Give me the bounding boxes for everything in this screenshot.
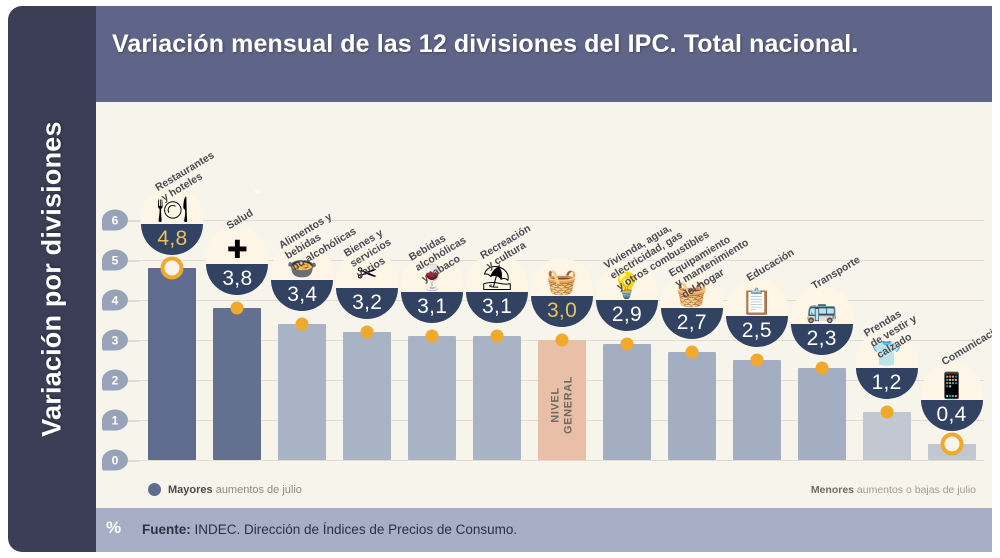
- y-tick-4: 4: [102, 290, 128, 311]
- y-tick-stem: [128, 340, 140, 341]
- value-bubble-6: 3,0: [531, 296, 593, 327]
- title-bar: Variación mensual de las 12 divisiones d…: [96, 6, 992, 102]
- source-text: INDEC. Dirección de Índices de Precios d…: [191, 522, 517, 537]
- y-tick-pill: 4: [102, 290, 128, 311]
- medical-cross-icon: ✚: [206, 226, 268, 264]
- category-label-12: Comunicación: [939, 321, 992, 369]
- smartphone-icon: 📱: [921, 362, 983, 400]
- bar-top-marker-9: [750, 354, 763, 367]
- bar-3[interactable]: [343, 332, 391, 460]
- value-text-12: 0,4: [936, 404, 966, 425]
- y-tick-0: 0: [102, 450, 128, 471]
- bar-top-marker-11: [880, 406, 893, 419]
- value-bubble-1: 3,8: [206, 264, 268, 295]
- legend-right-bold: Menores: [811, 484, 854, 496]
- bar-8[interactable]: [668, 352, 716, 460]
- bar-7[interactable]: [603, 344, 651, 460]
- bar-12[interactable]: [928, 444, 976, 460]
- sidebar: Variación por divisiones: [8, 6, 96, 552]
- percent-symbol: %: [106, 518, 121, 538]
- legend-right: Menores aumentos o bajas de julio: [811, 484, 976, 496]
- shopping-basket-icon-glyph: 🧺: [546, 270, 577, 295]
- value-text-4: 3,1: [417, 296, 447, 317]
- value-text-7: 2,9: [612, 304, 642, 325]
- legend-left: Mayores aumentos de julio: [148, 483, 302, 496]
- legend-left-bold: Mayores: [168, 484, 213, 496]
- y-tick-pill: 3: [102, 330, 128, 351]
- bar-top-marker-5: [491, 330, 504, 343]
- value-text-0: 4,8: [157, 228, 187, 249]
- notebook-pencil-icon-glyph: 📋: [741, 290, 772, 315]
- value-bubble-4: 3,1: [401, 292, 463, 323]
- bar-top-marker-6: [555, 334, 568, 347]
- y-tick-stem: [128, 260, 140, 261]
- value-bubble-2: 3,4: [271, 280, 333, 311]
- source-note: Fuente: INDEC. Dirección de Índices de P…: [142, 522, 517, 537]
- value-bubble-8: 2,7: [661, 308, 723, 339]
- bar-top-marker-8: [685, 346, 698, 359]
- y-tick-pill: 2: [102, 370, 128, 391]
- value-text-2: 3,4: [287, 284, 317, 305]
- medical-cross-icon-glyph: ✚: [227, 238, 248, 263]
- y-tick-stem: [128, 420, 140, 421]
- bar-top-marker-3: [361, 326, 374, 339]
- y-tick-6: 6: [102, 210, 128, 231]
- bar-1[interactable]: [213, 308, 261, 460]
- value-bubble-10: 2,3: [791, 324, 853, 355]
- shopping-basket-icon: 🧺: [531, 258, 593, 296]
- value-text-8: 2,7: [677, 312, 707, 333]
- value-text-6: 3,0: [547, 300, 577, 321]
- bar-5[interactable]: [473, 336, 521, 460]
- value-bubble-9: 2,5: [726, 316, 788, 347]
- y-tick-stem: [128, 300, 140, 301]
- y-tick-stem: [128, 220, 140, 221]
- bar-2[interactable]: [278, 324, 326, 460]
- category-label-10: Transporte: [809, 254, 862, 293]
- value-text-1: 3,8: [222, 268, 252, 289]
- value-bubble-7: 2,9: [596, 300, 658, 331]
- bars-plot-area: 4,8🍽Restaurantesy hoteles3,8✚Salud3,4🍲Al…: [140, 102, 984, 508]
- value-text-11: 1,2: [872, 372, 902, 393]
- nivel-general-label: NIVELGENERAL: [549, 376, 574, 434]
- value-text-3: 3,2: [352, 292, 382, 313]
- legend-right-rest: aumentos o bajas de julio: [854, 484, 976, 496]
- bar-10[interactable]: [798, 368, 846, 460]
- y-tick-stem: [128, 380, 140, 381]
- y-tick-1: 1: [102, 410, 128, 431]
- footer-bar: % Fuente: INDEC. Dirección de Índices de…: [96, 508, 992, 552]
- bar-top-marker-1: [231, 302, 244, 315]
- page-title: Variación mensual de las 12 divisiones d…: [112, 30, 858, 59]
- legend-left-text: Mayores aumentos de julio: [168, 484, 302, 496]
- infographic-root: Variación por divisiones Variación mensu…: [0, 0, 1000, 558]
- beach-umbrella-icon-glyph: ⛱: [481, 266, 513, 291]
- bar-0[interactable]: [148, 268, 196, 460]
- chart-panel: 6543210 4,8🍽Restaurantesy hoteles3,8✚Sal…: [96, 102, 992, 508]
- legend-left-swatch: [148, 483, 161, 496]
- y-tick-pill: 1: [102, 410, 128, 431]
- bar-top-marker-7: [620, 338, 633, 351]
- notebook-pencil-icon: 📋: [726, 278, 788, 316]
- cutlery-plate-icon-glyph: 🍽: [157, 198, 189, 223]
- bar-4[interactable]: [408, 336, 456, 460]
- bar-top-marker-2: [296, 318, 309, 331]
- y-tick-stem: [128, 460, 140, 461]
- y-tick-pill: 5: [102, 250, 128, 271]
- value-text-10: 2,3: [807, 328, 837, 349]
- legend-left-rest: aumentos de julio: [213, 484, 302, 496]
- bar-top-marker-12: [940, 433, 963, 456]
- bus-icon: 🚌: [791, 286, 853, 324]
- bar-top-marker-4: [426, 330, 439, 343]
- bus-icon-glyph: 🚌: [806, 298, 837, 323]
- value-text-9: 2,5: [742, 320, 772, 341]
- y-tick-pill: 0: [102, 450, 128, 471]
- value-bubble-11: 1,2: [856, 368, 918, 399]
- value-bubble-12: 0,4: [921, 400, 983, 431]
- bar-11[interactable]: [863, 412, 911, 460]
- bar-top-marker-10: [815, 362, 828, 375]
- bar-top-marker-0: [161, 257, 184, 280]
- source-prefix: Fuente:: [142, 522, 191, 537]
- y-tick-5: 5: [102, 250, 128, 271]
- value-bubble-3: 3,2: [336, 288, 398, 319]
- bar-6[interactable]: NIVELGENERAL: [538, 340, 586, 460]
- smartphone-icon-glyph: 📱: [936, 374, 967, 399]
- value-bubble-0: 4,8: [141, 224, 203, 255]
- value-text-5: 3,1: [482, 296, 512, 317]
- category-label-line: Transporte: [809, 254, 862, 292]
- y-tick-3: 3: [102, 330, 128, 351]
- category-label-line: Comunicación: [939, 321, 992, 369]
- sidebar-label: Variación por divisiones: [37, 121, 68, 436]
- value-bubble-5: 3,1: [466, 292, 528, 323]
- y-tick-2: 2: [102, 370, 128, 391]
- bar-9[interactable]: [733, 360, 781, 460]
- y-tick-pill: 6: [102, 210, 128, 231]
